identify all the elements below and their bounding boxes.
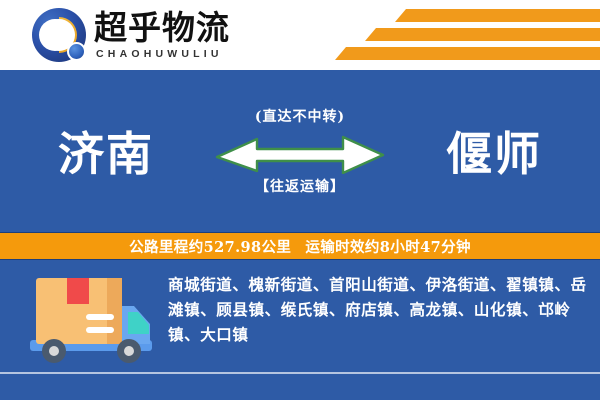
distance-text: 公路里程约527.98公里	[129, 236, 291, 257]
route-middle: (直达不中转) 【往返运输】	[200, 106, 400, 196]
header-bar: 超乎物流 CHAOHUWULIU	[0, 0, 600, 70]
route-info-bar: 公路里程约527.98公里 运输时效约8小时47分钟	[0, 232, 600, 260]
round-trip-note: 【往返运输】	[200, 176, 400, 196]
route-section: 济南 (直达不中转) 【往返运输】 偃师	[0, 70, 600, 232]
company-name-en: CHAOHUWULIU	[96, 49, 230, 60]
coverage-areas-text: 商城街道、槐新街道、首阳山街道、伊洛街道、翟镇镇、岳滩镇、顾县镇、缑氏镇、府店镇…	[168, 272, 590, 347]
company-logo: 超乎物流 CHAOHUWULIU	[32, 8, 230, 62]
logo-text-block: 超乎物流 CHAOHUWULIU	[94, 11, 230, 60]
destination-city: 偃师	[446, 118, 542, 184]
orange-speed-stripes-icon	[330, 9, 600, 65]
stripe-2	[365, 28, 600, 41]
duration-text: 运输时效约8小时47分钟	[305, 236, 471, 257]
coverage-section: 商城街道、槐新街道、首阳山街道、伊洛街道、翟镇镇、岳滩镇、顾县镇、缑氏镇、府店镇…	[0, 262, 600, 400]
origin-city: 济南	[58, 118, 154, 184]
delivery-truck-icon	[24, 272, 160, 368]
double-headed-arrow-icon	[215, 128, 385, 174]
direct-route-note: (直达不中转)	[200, 106, 400, 126]
circle-q-logo-icon	[32, 8, 86, 62]
company-name-cn: 超乎物流	[94, 11, 230, 44]
bottom-divider	[0, 372, 600, 374]
logistics-route-banner: 超乎物流 CHAOHUWULIU 济南 (直达不中转) 【往返运输】 偃师 公路…	[0, 0, 600, 400]
stripe-1	[395, 9, 600, 22]
stripe-3	[335, 47, 600, 60]
logo-dot	[67, 42, 86, 61]
